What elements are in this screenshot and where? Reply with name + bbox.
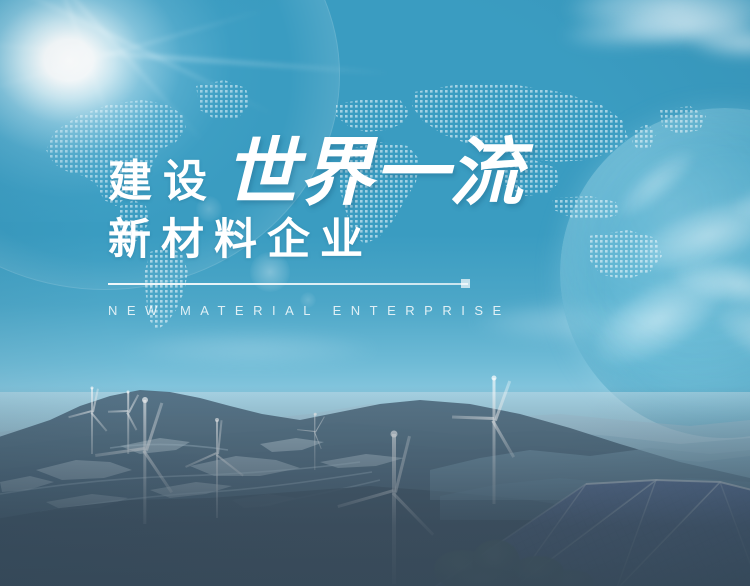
hero-banner: 建设 世界一流 新材料企业 NEW MATERIAL ENTERPRISE [0,0,750,586]
vignette [0,0,750,586]
